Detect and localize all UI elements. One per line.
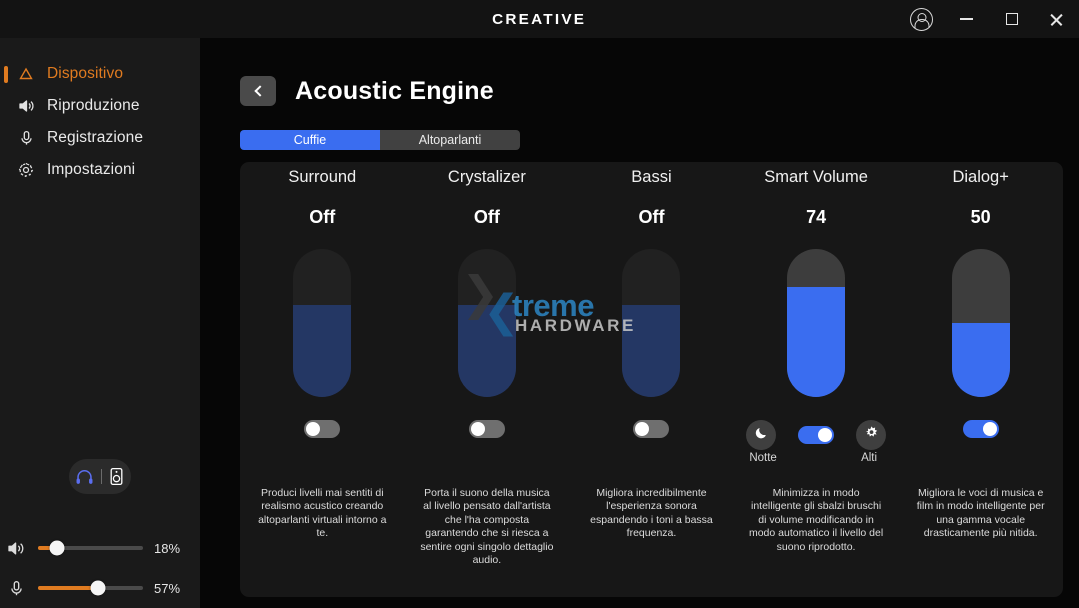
effect-title: Crystalizer [405, 168, 570, 187]
effect-slider-fill [622, 305, 680, 397]
sidebar-item-impostazioni[interactable]: Impostazioni [0, 154, 200, 186]
output-device-toggle[interactable] [69, 459, 131, 494]
effect-description: Produci livelli mai sentiti di realismo … [254, 487, 390, 541]
effect-slider-fill [787, 287, 845, 397]
account-button[interactable] [899, 0, 944, 38]
effect-description: Minimizza in modo intelligente gli sbalz… [748, 487, 884, 554]
effect-slider[interactable] [787, 249, 845, 397]
effect-toggle[interactable] [798, 426, 834, 444]
sidebar-item-label: Riproduzione [47, 97, 140, 115]
effect-title: Bassi [569, 168, 734, 187]
mic-volume-fill [38, 586, 98, 590]
playback-volume-knob[interactable] [49, 541, 64, 556]
sidebar-item-dispositivo[interactable]: Dispositivo [0, 58, 200, 90]
toggle-knob [306, 422, 320, 436]
effect-slider[interactable] [458, 249, 516, 397]
effect-toggle-row [898, 420, 1063, 438]
close-icon [1049, 12, 1064, 27]
effect-value: Off [569, 207, 734, 228]
effect-slider-fill [293, 305, 351, 397]
window-controls [899, 0, 1079, 38]
device-triangle-icon [14, 66, 38, 82]
effect-slider-fill [952, 323, 1010, 397]
effects-panel: Surround Off Produci livelli mai sentiti… [240, 162, 1063, 597]
sidebar-item-riproduzione[interactable]: Riproduzione [0, 90, 200, 122]
back-button[interactable] [240, 76, 276, 106]
effect-description: Migliora incredibilmente l'esperienza so… [583, 487, 719, 541]
effect-toggle-row [734, 420, 899, 450]
page-title: Acoustic Engine [295, 77, 494, 106]
toggle-knob [635, 422, 649, 436]
effect-toggle-row [405, 420, 570, 438]
speaker-box-icon[interactable] [106, 467, 128, 486]
speaker-icon [14, 98, 38, 114]
effect-description: Porta il suono della musica al livello p… [419, 487, 555, 568]
smart-volume-mode-labels: Notte Alti [734, 452, 899, 464]
effect-title: Surround [240, 168, 405, 187]
mic-volume-knob[interactable] [90, 581, 105, 596]
effect-toggle-row [569, 420, 734, 438]
chevron-left-icon [254, 85, 265, 96]
sidebar-nav: Dispositivo Riproduzione Registrazio [0, 38, 200, 186]
tab-altoparlanti[interactable]: Altoparlanti [380, 130, 520, 150]
effect-value: 74 [734, 207, 899, 228]
moon-icon [754, 425, 769, 445]
tab-cuffie[interactable]: Cuffie [240, 130, 380, 150]
microphone-icon [14, 130, 38, 146]
title-bar: CREATIVE [0, 0, 1079, 38]
effect-column-surround: Surround Off Produci livelli mai sentiti… [240, 162, 405, 597]
mic-volume-slider[interactable] [38, 586, 143, 590]
maximize-button[interactable] [989, 0, 1034, 38]
mic-volume-value: 57% [154, 581, 180, 596]
playback-volume-slider[interactable] [38, 546, 143, 550]
gear-icon [14, 162, 38, 178]
effect-column-smart-volume: Smart Volume 74 [734, 162, 899, 597]
playback-volume-value: 18% [154, 541, 180, 556]
minimize-icon [960, 18, 973, 20]
sidebar: Dispositivo Riproduzione Registrazio [0, 38, 200, 608]
divider [101, 469, 102, 484]
sidebar-item-label: Impostazioni [47, 161, 135, 179]
effect-column-bassi: Bassi Off Migliora incredibilmente l'esp… [569, 162, 734, 597]
effect-title: Dialog+ [898, 168, 1063, 187]
effect-column-dialog-plus: Dialog+ 50 Migliora le voci di musica e … [898, 162, 1063, 597]
microphone-icon [0, 580, 32, 597]
toggle-knob [818, 428, 832, 442]
sidebar-item-label: Dispositivo [47, 65, 123, 83]
effect-slider[interactable] [622, 249, 680, 397]
sun-burst-icon [864, 425, 879, 445]
toggle-knob [471, 422, 485, 436]
loud-mode-label: Alti [845, 452, 893, 464]
minimize-button[interactable] [944, 0, 989, 38]
effect-slider[interactable] [293, 249, 351, 397]
maximize-icon [1006, 13, 1018, 25]
speaker-wave-icon [0, 540, 32, 557]
user-account-icon [910, 8, 933, 31]
night-mode-button[interactable] [746, 420, 776, 450]
effect-toggle[interactable] [469, 420, 505, 438]
effect-toggle[interactable] [963, 420, 999, 438]
toggle-knob [983, 422, 997, 436]
effect-value: Off [405, 207, 570, 228]
effect-column-crystalizer: Crystalizer Off Porta il suono della mus… [405, 162, 570, 597]
effect-slider[interactable] [952, 249, 1010, 397]
effect-toggle[interactable] [633, 420, 669, 438]
creative-logo: CREATIVE [492, 11, 586, 28]
device-type-tabs: Cuffie Altoparlanti [240, 130, 520, 150]
effect-description: Migliora le voci di musica e film in mod… [913, 487, 1049, 541]
sidebar-item-label: Registrazione [47, 129, 143, 147]
headphone-icon[interactable] [73, 468, 97, 486]
playback-volume-row: 18% [0, 536, 200, 560]
night-mode-label: Notte [739, 452, 787, 464]
close-button[interactable] [1034, 0, 1079, 38]
effect-title: Smart Volume [734, 168, 899, 187]
effect-toggle[interactable] [304, 420, 340, 438]
mic-volume-row: 57% [0, 576, 200, 600]
effect-toggle-row [240, 420, 405, 438]
effect-slider-fill [458, 305, 516, 397]
effects-columns: Surround Off Produci livelli mai sentiti… [240, 162, 1063, 597]
effect-value: 50 [898, 207, 1063, 228]
loud-mode-button[interactable] [856, 420, 886, 450]
sidebar-item-registrazione[interactable]: Registrazione [0, 122, 200, 154]
page-header: Acoustic Engine [240, 76, 494, 106]
effect-value: Off [240, 207, 405, 228]
